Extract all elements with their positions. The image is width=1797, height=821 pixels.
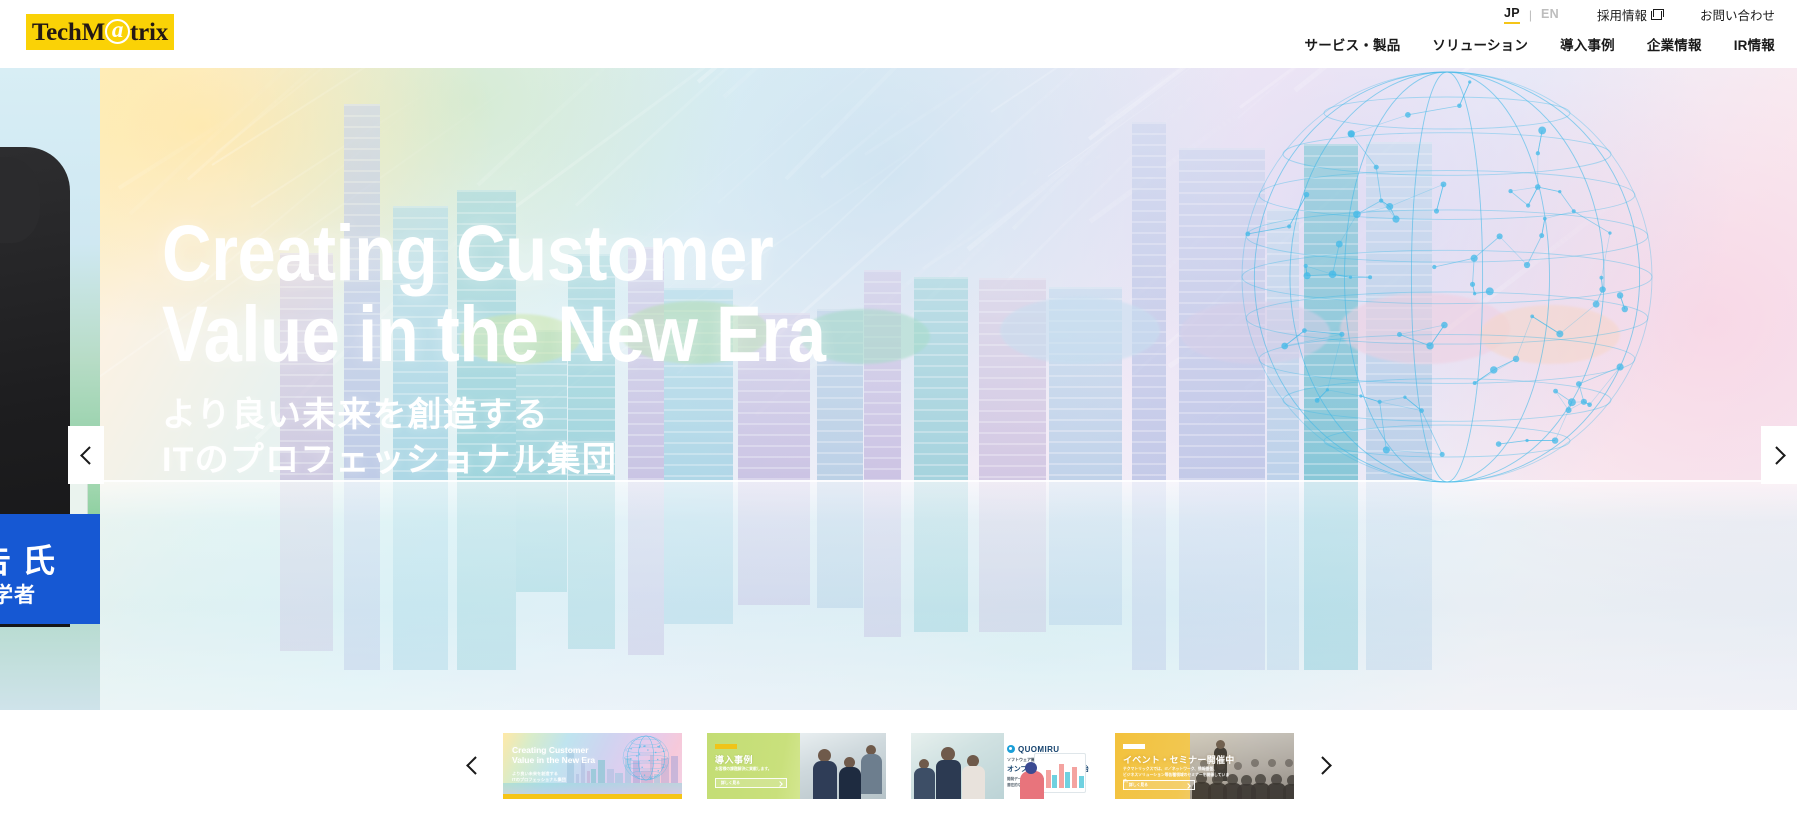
lang-separator: |: [1529, 8, 1532, 22]
thumbnail-4-image: イベント・セミナー開催中 テクマトリックスでは、IT／ネットワーク、情報基盤、 …: [1115, 733, 1294, 799]
thumbnail-4-title: イベント・セミナー開催中: [1123, 753, 1235, 766]
hero-copy: Creating Customer Value in the New Era よ…: [162, 212, 925, 483]
logo-text: TechMatrix: [32, 20, 168, 45]
thumbnail-1-sub-line2: ITのプロフェッショナル集団: [512, 777, 566, 784]
hero-subtitle: より良い未来を創造する ITのプロフェッショナル集団: [162, 393, 925, 483]
thumbnail-item-3[interactable]: QUOMIRU ソフトウェア開発保守ダッシュボード オンプレミス版を販売開始 開…: [911, 733, 1090, 799]
chevron-left-icon: [80, 446, 98, 464]
chevron-right-icon: [1185, 783, 1191, 789]
nav-item-ir[interactable]: IR情報: [1734, 34, 1775, 54]
nav-item-services[interactable]: サービス・製品: [1305, 34, 1401, 54]
thumbnail-3-person-illustration: [1020, 771, 1044, 799]
language-switcher: JP | EN: [1504, 6, 1559, 24]
thumbnail-4-tag: [1123, 744, 1145, 749]
thumbnail-1-title-line2: Value in the New Era: [512, 755, 595, 766]
carousel-thumbnail-bar: Creating Customer Value in the New Era よ…: [0, 710, 1797, 821]
previous-slide-name: 告 氏: [0, 534, 56, 582]
thumbnail-1-subtitle: より良い未来を創造する ITのプロフェッショナル集団: [512, 771, 566, 784]
thumbnail-2-tag: [715, 744, 737, 749]
recruit-label: 採用情報: [1597, 5, 1647, 24]
thumbnails-prev-button[interactable]: [455, 736, 489, 796]
logo-text-pre: TechM: [32, 19, 105, 46]
chevron-right-icon: [1767, 446, 1785, 464]
thumbnail-1-title: Creating Customer Value in the New Era: [512, 745, 595, 766]
main-nav: サービス・製品 ソリューション 導入事例 企業情報 IR情報: [1305, 34, 1775, 54]
thumbnail-4-button-label: 詳しく見る: [1129, 783, 1148, 788]
lang-jp-link[interactable]: JP: [1504, 6, 1520, 24]
hero-subtitle-line1: より良い未来を創造する: [162, 393, 925, 438]
hero-prev-button[interactable]: [68, 426, 104, 484]
external-link-icon: [1651, 9, 1662, 20]
logo-a-mark: a: [105, 20, 130, 45]
site-header: TechMatrix JP | EN 採用情報 お問い合わせ サービス・製品 ソ…: [0, 0, 1797, 68]
lang-en-link[interactable]: EN: [1541, 7, 1559, 23]
previous-slide-role: 工学者: [0, 579, 36, 609]
thumbnail-1-title-line1: Creating Customer: [512, 745, 595, 756]
thumbnails-next-button[interactable]: [1308, 736, 1342, 796]
thumbnail-4-button: 詳しく見る: [1123, 780, 1195, 790]
thumbnail-2-button-label: 詳しく見る: [721, 781, 740, 786]
thumbnail-item-2[interactable]: 導入事例 お客様の課題解決に貢献します。 詳しく見る: [707, 733, 886, 799]
chevron-right-icon: [777, 781, 783, 787]
thumbnail-item-4[interactable]: イベント・セミナー開催中 テクマトリックスでは、IT／ネットワーク、情報基盤、 …: [1115, 733, 1294, 799]
chevron-right-icon: [1313, 756, 1331, 774]
network-globe-graphic: [1147, 62, 1707, 532]
hero-headline-line1: Creating Customer: [162, 212, 826, 293]
hero-carousel: 告 氏 工学者 Creating Customer Value in the N…: [0, 62, 1797, 710]
thumbnail-2-photo: [800, 733, 886, 799]
thumbnail-list: Creating Customer Value in the New Era よ…: [503, 733, 1294, 799]
thumbnail-1-globe-icon: [608, 734, 678, 786]
quomiru-logo-icon: [1007, 745, 1015, 753]
hero-headline: Creating Customer Value in the New Era: [162, 212, 826, 375]
recruit-link[interactable]: 採用情報: [1597, 5, 1662, 24]
chevron-left-icon: [466, 756, 484, 774]
utility-nav: JP | EN 採用情報 お問い合わせ: [1504, 5, 1775, 24]
hero-subtitle-line2: ITのプロフェッショナル集団: [162, 438, 925, 483]
contact-link[interactable]: お問い合わせ: [1700, 5, 1775, 24]
previous-slide-caption: 告 氏 工学者: [0, 514, 100, 624]
logo-text-post: trix: [130, 19, 168, 46]
logo-a-glyph: a: [105, 18, 130, 41]
thumbnail-1-image: Creating Customer Value in the New Era よ…: [503, 733, 682, 799]
nav-item-company[interactable]: 企業情報: [1647, 34, 1702, 54]
logo[interactable]: TechMatrix: [26, 14, 174, 50]
hero-slide-active: Creating Customer Value in the New Era よ…: [100, 62, 1797, 710]
hero-next-button[interactable]: [1761, 426, 1797, 484]
nav-item-solutions[interactable]: ソリューション: [1432, 34, 1528, 54]
thumbnail-4-desc-line1: テクマトリックスでは、IT／ネットワーク、情報基盤、: [1123, 766, 1233, 772]
nav-item-cases[interactable]: 導入事例: [1560, 34, 1615, 54]
contact-label: お問い合わせ: [1700, 5, 1775, 24]
hero-slide-previous[interactable]: 告 氏 工学者: [0, 62, 100, 710]
thumbnail-2-button: 詳しく見る: [715, 778, 787, 788]
thumbnail-item-1[interactable]: Creating Customer Value in the New Era よ…: [503, 733, 682, 799]
thumbnail-3-photo: [911, 733, 1004, 799]
thumbnail-2-title: 導入事例: [715, 753, 753, 766]
thumbnail-2-image: 導入事例 お客様の課題解決に貢献します。 詳しく見る: [707, 733, 886, 799]
thumbnail-3-image: QUOMIRU ソフトウェア開発保守ダッシュボード オンプレミス版を販売開始 開…: [911, 733, 1090, 799]
thumbnail-2-description: お客様の課題解決に貢献します。: [715, 766, 799, 772]
hero-headline-line2: Value in the New Era: [162, 293, 826, 374]
